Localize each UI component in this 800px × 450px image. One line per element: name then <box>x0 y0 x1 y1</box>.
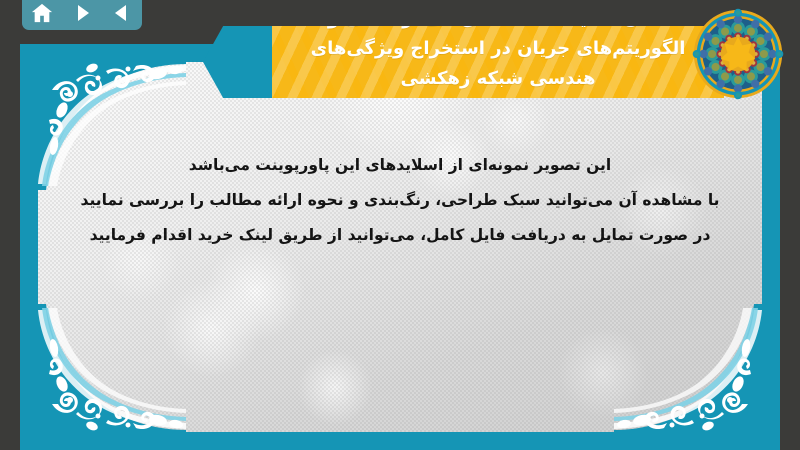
next-button[interactable] <box>67 0 97 26</box>
triangle-left-icon <box>112 3 132 23</box>
previous-button[interactable] <box>107 0 137 26</box>
slide-card: این تصویر نمونه‌ای از اسلایدهای این پاور… <box>20 44 780 450</box>
persian-medallion-ornament <box>690 6 786 102</box>
body-line-2: با مشاهده آن می‌توانید سبک طراحی، رنگ‌بن… <box>66 183 734 218</box>
navigation-button-group <box>22 0 142 30</box>
home-icon <box>31 2 53 24</box>
body-line-1: این تصویر نمونه‌ای از اسلایدهای این پاور… <box>66 148 734 183</box>
triangle-right-icon <box>72 3 92 23</box>
body-line-3: در صورت تمایل به دریافت فایل کامل، می‌تو… <box>66 218 734 253</box>
page-title: کامل مقایسه دقت مدل‌های ارتفاعی و الگوری… <box>272 26 724 94</box>
title-banner: کامل مقایسه دقت مدل‌های ارتفاعی و الگوری… <box>272 26 724 98</box>
home-button[interactable] <box>27 0 57 26</box>
slide-body-text: این تصویر نمونه‌ای از اسلایدهای این پاور… <box>66 148 734 253</box>
slide-viewer: این تصویر نمونه‌ای از اسلایدهای این پاور… <box>0 0 800 450</box>
